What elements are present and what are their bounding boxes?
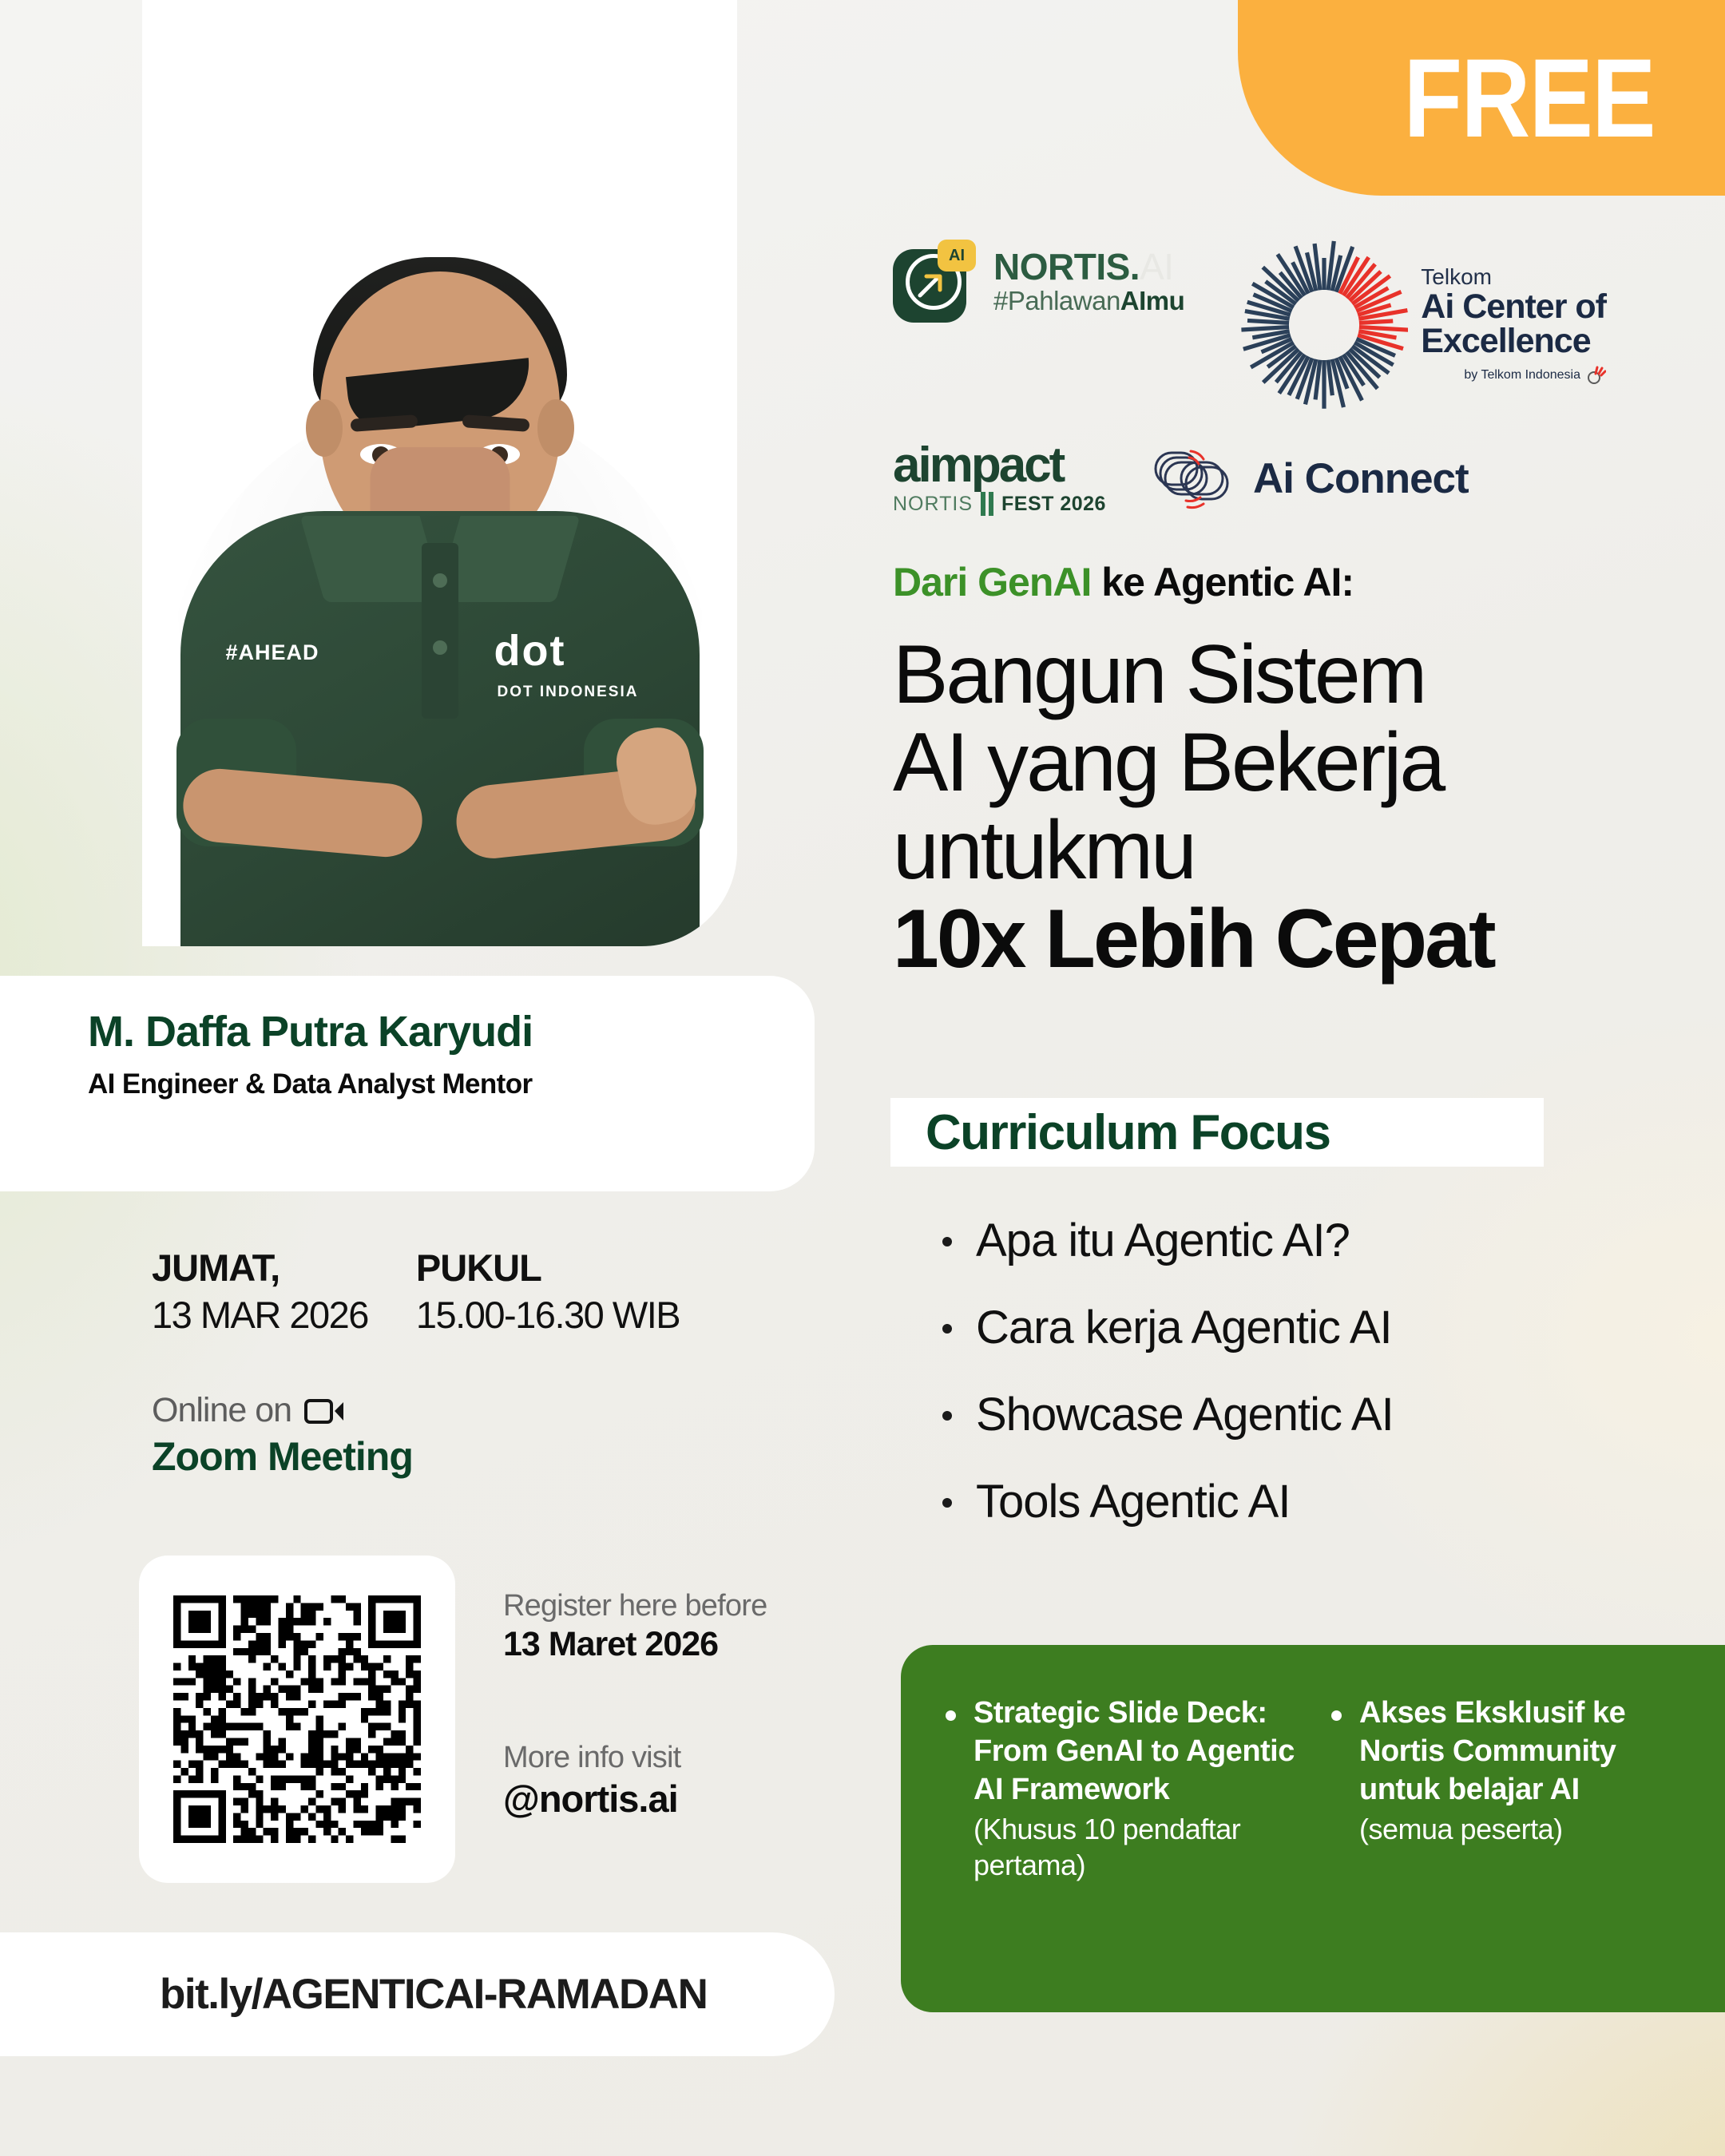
ai-connect-chain-icon (1151, 440, 1237, 517)
info-handle: @nortis.ai (503, 1777, 847, 1821)
event-platform-name: Zoom Meeting (152, 1433, 815, 1480)
curriculum-title: Curriculum Focus (926, 1104, 1330, 1161)
curriculum-item: Cara kerja Agentic AI (942, 1301, 1701, 1354)
nortis-wordmark-main: NORTIS. (993, 246, 1140, 287)
video-camera-icon (304, 1396, 346, 1426)
ai-connect-wordmark: Ai Connect (1253, 454, 1469, 503)
info-prefix: More info visit (503, 1741, 847, 1775)
register-deadline: 13 Maret 2026 (503, 1625, 847, 1664)
perk-title: Akses Eksklusif ke Nortis Community untu… (1359, 1694, 1683, 1809)
shirt-brand-sublabel: DOT INDONESIA (498, 684, 639, 701)
speaker-photo: #AHEAD dot DOT INDONESIA (142, 0, 737, 946)
nortis-tagline-bold: AImu (1120, 286, 1185, 315)
qr-code-card[interactable] (139, 1556, 455, 1883)
event-day-label: JUMAT, (152, 1246, 368, 1290)
nortis-ai-logo: AI NORTIS.AI #PahlawanAImu (893, 240, 1184, 323)
event-platform-prefix: Online on (152, 1391, 291, 1430)
aimpact-sub-nortis: NORTIS (893, 494, 973, 514)
perk-note: (semua peserta) (1359, 1811, 1683, 1847)
event-time-label: PUKUL (416, 1246, 680, 1290)
qr-code-icon[interactable] (173, 1595, 421, 1843)
speaker-role: AI Engineer & Data Analyst Mentor (88, 1068, 815, 1100)
perk-item: Akses Eksklusif ke Nortis Community untu… (1331, 1694, 1683, 2012)
event-time: PUKUL 15.00-16.30 WIB (416, 1246, 680, 1337)
curriculum-item-label: Tools Agentic AI (976, 1475, 1290, 1528)
ai-connect-logo: Ai Connect (1151, 440, 1469, 517)
telkom-byline: by Telkom Indonesia (1464, 369, 1580, 382)
telkom-hand-icon (1585, 365, 1606, 386)
ear-right (537, 399, 574, 457)
shirt-brand-logo: dot (494, 626, 566, 676)
arrow-up-right-icon (917, 271, 944, 299)
shirt-text-ahead: #AHEAD (226, 640, 319, 665)
aimpact-fest-logo: aimpact NORTIS FEST 2026 (893, 441, 1106, 516)
aimpact-wordmark: aimpact (893, 441, 1063, 490)
ear-left (306, 399, 343, 457)
telkom-radial-burst-icon: {} (1240, 240, 1408, 411)
free-badge: FREE (1238, 0, 1725, 196)
curriculum-item: Showcase Agentic AI (942, 1388, 1701, 1441)
curriculum-item: Tools Agentic AI (942, 1475, 1701, 1528)
perk-title: Strategic Slide Deck: From GenAI to Agen… (974, 1694, 1298, 1809)
nortis-wordmark-ai: AI (1140, 246, 1173, 287)
event-time-value: 15.00-16.30 WIB (416, 1293, 680, 1337)
telkom-ai-coe-logo: {} Telkom Ai Center of Excellence by Tel… (1240, 240, 1606, 411)
event-date: JUMAT, 13 MAR 2026 (152, 1246, 368, 1337)
telkom-line3: Excellence (1421, 324, 1606, 359)
nortis-logo-mark: AI (893, 240, 976, 323)
speaker-card: M. Daffa Putra Karyudi AI Engineer & Dat… (0, 976, 815, 1191)
poster-canvas: FREE (0, 0, 1725, 2156)
headline-block: Bangun Sistem AI yang Bekerja untukmu 10… (893, 631, 1707, 983)
curriculum-list: Apa itu Agentic AI? Cara kerja Agentic A… (942, 1214, 1701, 1562)
speaker-name: M. Daffa Putra Karyudi (88, 1008, 815, 1056)
headline-eyebrow-rest: ke Agentic AI: (1091, 560, 1354, 604)
shirt-placket (422, 543, 458, 719)
curriculum-item-label: Cara kerja Agentic AI (976, 1301, 1392, 1354)
perks-box: Strategic Slide Deck: From GenAI to Agen… (901, 1645, 1725, 2012)
bullet-icon (942, 1498, 952, 1508)
nortis-ai-badge: AI (938, 240, 976, 271)
headline-eyebrow: Dari GenAI ke Agentic AI: (893, 559, 1354, 605)
headline-line-3: untukmu (893, 807, 1707, 894)
bullet-icon (946, 1710, 956, 1721)
free-badge-label: FREE (1404, 42, 1655, 154)
aimpact-divider-bars (981, 492, 993, 516)
curriculum-item-label: Showcase Agentic AI (976, 1388, 1394, 1441)
telkom-line1: Telkom (1421, 266, 1606, 288)
registration-url-bar[interactable]: bit.ly/AGENTICAI-RAMADAN (0, 1932, 835, 2056)
registration-url[interactable]: bit.ly/AGENTICAI-RAMADAN (160, 1970, 707, 2019)
bullet-icon (942, 1324, 952, 1334)
headline-line-4: 10x Lebih Cepat (893, 895, 1707, 983)
aimpact-sub-fest: FEST 2026 (1001, 494, 1106, 514)
headline-line-1: Bangun Sistem (893, 631, 1707, 719)
bullet-icon (1331, 1710, 1342, 1721)
register-prefix: Register here before (503, 1589, 847, 1623)
nortis-tagline-light: #Pahlawan (993, 286, 1120, 315)
shirt-button-bottom (433, 640, 447, 655)
curriculum-title-band: Curriculum Focus (890, 1098, 1544, 1167)
perk-item: Strategic Slide Deck: From GenAI to Agen… (946, 1694, 1298, 2012)
perk-note: (Khusus 10 pendaftar pertama) (974, 1811, 1298, 1884)
registration-info: Register here before 13 Maret 2026 More … (503, 1589, 847, 1821)
curriculum-item-label: Apa itu Agentic AI? (976, 1214, 1350, 1267)
shirt-button-top (433, 573, 447, 588)
bullet-icon (942, 1411, 952, 1421)
event-platform: Online on Zoom Meeting (152, 1391, 815, 1480)
event-day-value: 13 MAR 2026 (152, 1293, 368, 1337)
curriculum-item: Apa itu Agentic AI? (942, 1214, 1701, 1267)
partner-logos: AI NORTIS.AI #PahlawanAImu {} Te (893, 240, 1699, 517)
headline-eyebrow-highlight: Dari GenAI (893, 560, 1091, 604)
speaker-photo-panel: #AHEAD dot DOT INDONESIA (142, 0, 737, 946)
event-meta: JUMAT, 13 MAR 2026 PUKUL 15.00-16.30 WIB… (152, 1246, 815, 1480)
headline-line-2: AI yang Bekerja (893, 719, 1707, 807)
telkom-line2: Ai Center of (1421, 290, 1606, 324)
bullet-icon (942, 1237, 952, 1246)
